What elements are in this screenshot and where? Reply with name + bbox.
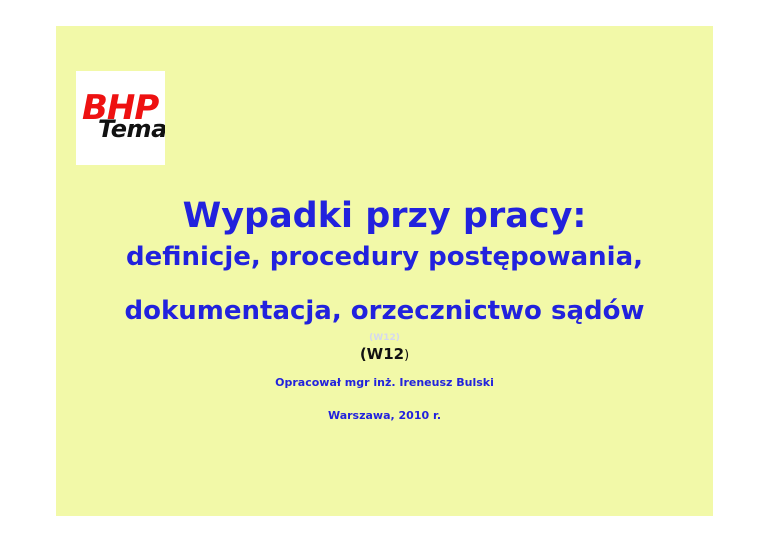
place-and-date: Warszawa, 2010 r. xyxy=(56,409,713,423)
subtitle-line-1: definicje, procedury postępowania, xyxy=(56,241,713,273)
author-credit: Opracował mgr inż. Ireneusz Bulski xyxy=(56,376,713,390)
lecture-code-bold: (W12 xyxy=(360,345,404,363)
bhp-temat-logo: BHP Temat xyxy=(76,71,165,165)
page-title: Wypadki przy pracy: xyxy=(56,196,713,236)
lecture-code-ghost: (W12) xyxy=(56,333,713,344)
subtitle-line-2: dokumentacja, orzecznictwo sądów xyxy=(56,295,713,327)
logo-temat-text: Temat xyxy=(98,117,165,141)
lecture-code-closing-paren: ) xyxy=(404,348,409,363)
presentation-slide: BHP Temat Wypadki przy pracy: definicje,… xyxy=(56,26,713,516)
lecture-code: (W12) xyxy=(56,345,713,365)
